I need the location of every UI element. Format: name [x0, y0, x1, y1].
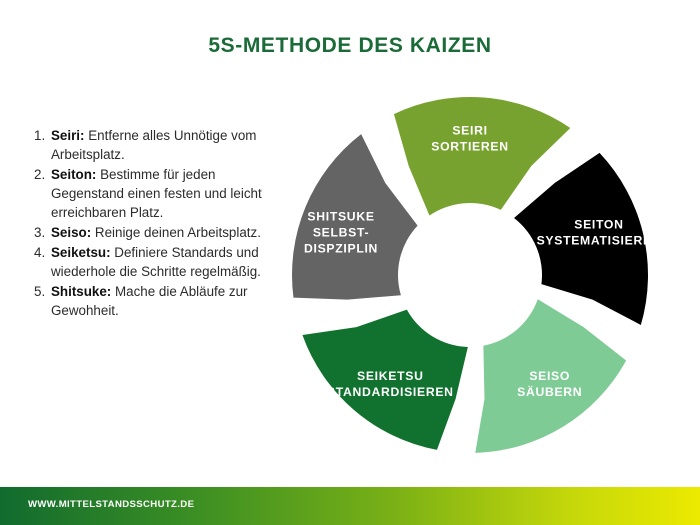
wheel-label-shitsuke-line3: DISPZIPLIN	[304, 241, 378, 255]
wheel-label-seiri-line2: SORTIEREN	[431, 140, 508, 154]
list-item-number: 5.	[34, 282, 45, 301]
wheel-label-shitsuke-line1: SHITSUKE	[307, 209, 374, 223]
footer-website-url: WWW.MITTELSTANDSSCHUTZ.DE	[28, 499, 194, 510]
wheel-label-seiso-line2: SÄUBERN	[517, 384, 582, 399]
list-item-term: Seiso:	[51, 225, 91, 240]
list-item: 5.Shitsuke: Mache die Abläufe zur Gewohh…	[34, 282, 286, 320]
list-item: 3.Seiso: Reinige deinen Arbeitsplatz.	[34, 223, 286, 242]
list-item-number: 3.	[34, 223, 45, 242]
page-title: 5S-METHODE DES KAIZEN	[0, 34, 700, 58]
wheel-label-seiketsu-line1: SEIKETSU	[357, 369, 424, 383]
wheel-label-seiketsu-line2: STANDARDISIEREN	[327, 385, 454, 399]
wheel-label-seiton-line1: SEITON	[574, 217, 623, 231]
infographic-page: 5S-METHODE DES KAIZEN 1.Seiri: Entferne …	[0, 0, 700, 525]
steps-list: 1.Seiri: Entferne alles Unnötige vom Arb…	[34, 126, 286, 321]
list-item: 1.Seiri: Entferne alles Unnötige vom Arb…	[34, 126, 286, 164]
list-item: 2.Seiton: Bestimme für jeden Gegenstand …	[34, 165, 286, 222]
list-item-number: 4.	[34, 243, 45, 262]
5s-cycle-wheel: SEIRISORTIERENSEITONSYSTEMATISIERENSEISO…	[282, 87, 658, 463]
list-item-term: Seiri:	[51, 128, 85, 143]
list-item-term: Seiton:	[51, 167, 96, 182]
list-item-number: 2.	[34, 165, 45, 184]
wheel-label-seiton-line2: SYSTEMATISIEREN	[537, 233, 658, 247]
footer-bar: WWW.MITTELSTANDSSCHUTZ.DE	[0, 487, 700, 525]
wheel-label-seiri-line1: SEIRI	[452, 124, 487, 138]
wheel-label-seiso-line1: SEISO	[529, 369, 570, 383]
wheel-label-shitsuke-line2: SELBST-	[313, 225, 369, 239]
list-item-text: Reinige deinen Arbeitsplatz.	[91, 225, 261, 240]
list-item-number: 1.	[34, 126, 45, 145]
list-item: 4.Seiketsu: Definiere Standards und wied…	[34, 243, 286, 281]
list-item-term: Seiketsu:	[51, 245, 111, 260]
list-item-term: Shitsuke:	[51, 284, 111, 299]
